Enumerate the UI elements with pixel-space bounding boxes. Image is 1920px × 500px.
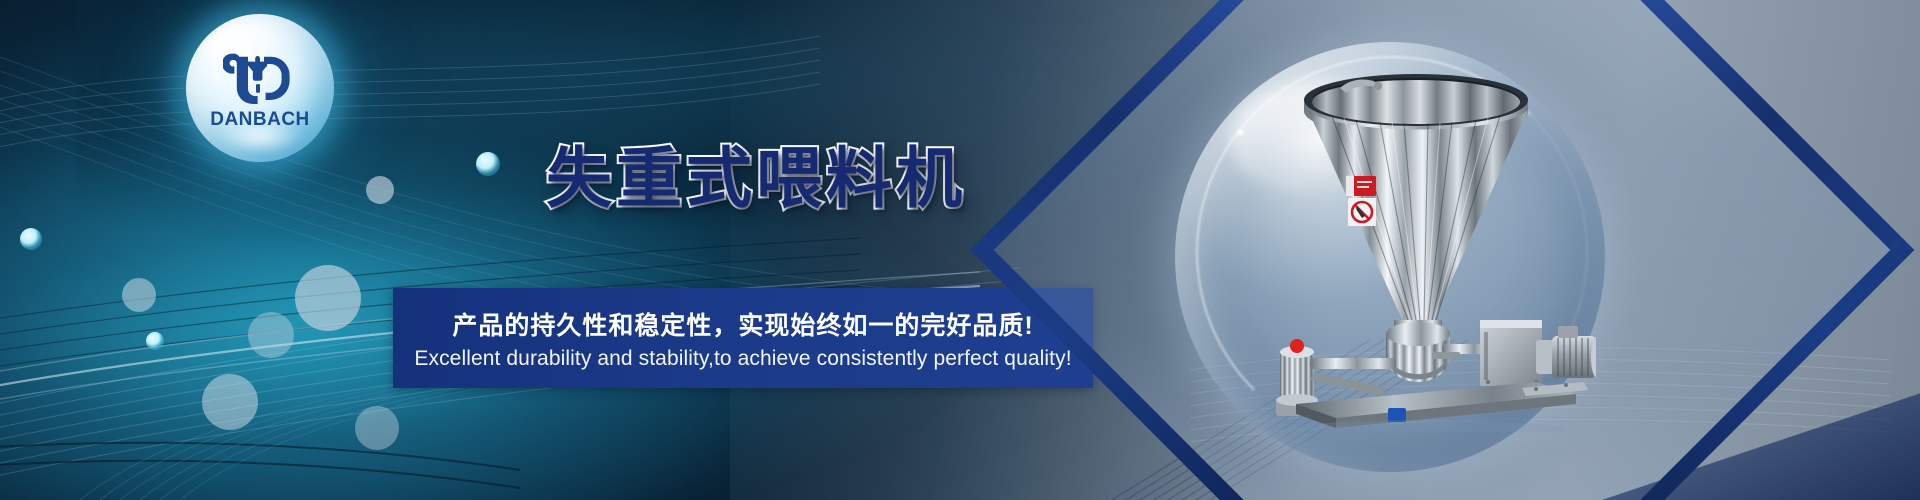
subtitle-english: Excellent durability and stability,to ac… [414, 347, 1071, 371]
danbach-emblem-icon [223, 52, 297, 108]
brand-wordmark: DANBACH [210, 109, 310, 131]
page-title: 失重式喂料机 [546, 125, 966, 221]
red-indicator-button [1290, 339, 1304, 353]
subtitle-panel: 产品的持久性和稳定性，实现始终如一的完好品质! Excellent durabi… [393, 288, 1093, 388]
brand-logo-sphere[interactable]: DANBACH [186, 14, 334, 162]
subtitle-chinese: 产品的持久性和稳定性，实现始终如一的完好品质! [452, 306, 1033, 342]
product-image-loss-in-weight-feeder [1236, 52, 1596, 432]
product-hero-banner: DANBACH 失重式喂料机 产品的持久性和稳定性，实现始终如一的完好品质! E… [0, 0, 1920, 500]
blue-connector [1388, 408, 1406, 422]
gear-motor [1480, 320, 1542, 386]
